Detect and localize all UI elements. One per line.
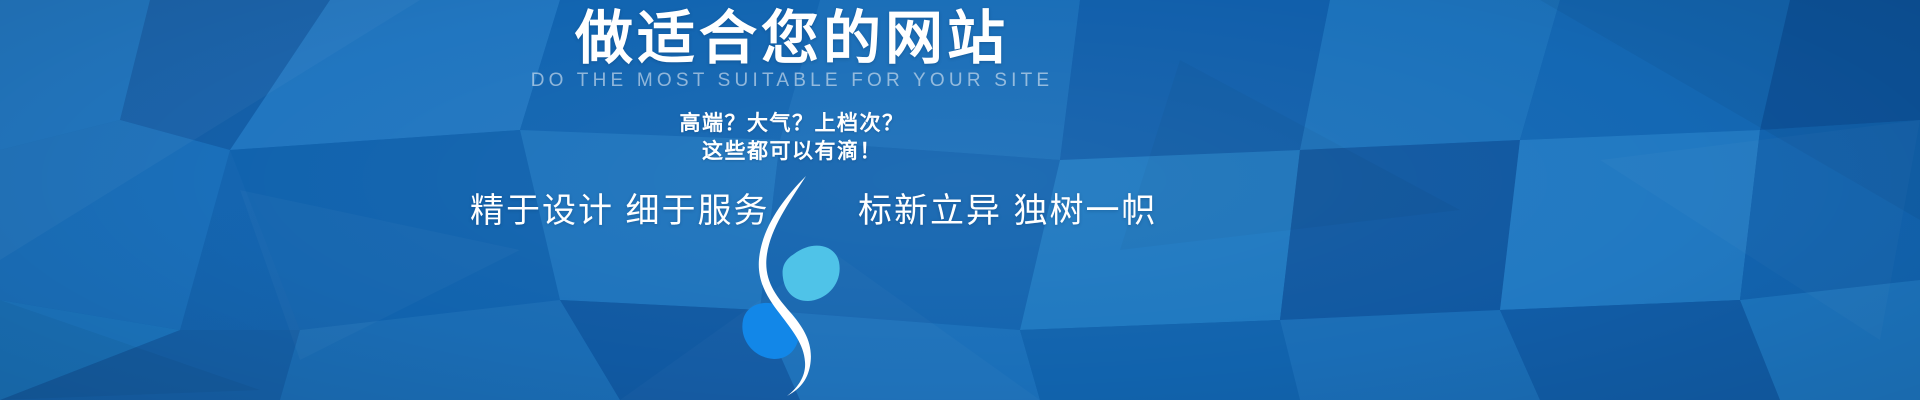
promo-banner: 做适合您的网站 DO THE MOST SUITABLE FOR YOUR SI… xyxy=(0,0,1920,400)
tagline-answer: 这些都可以有滴！ xyxy=(0,135,1752,165)
slogan-left: 精于设计 细于服务 xyxy=(470,183,769,232)
leaf-swirl-logo xyxy=(738,170,846,400)
leaf-bottom-icon xyxy=(742,303,799,359)
page-title: 做适合您的网站 xyxy=(0,8,1752,71)
tagline-question: 高端？大气？上档次？ xyxy=(0,107,1752,137)
english-subtitle: DO THE MOST SUITABLE FOR YOUR SITE xyxy=(0,70,1752,92)
slogan-right: 标新立异 独树一帜 xyxy=(858,183,1157,232)
leaf-top-icon xyxy=(783,246,840,301)
